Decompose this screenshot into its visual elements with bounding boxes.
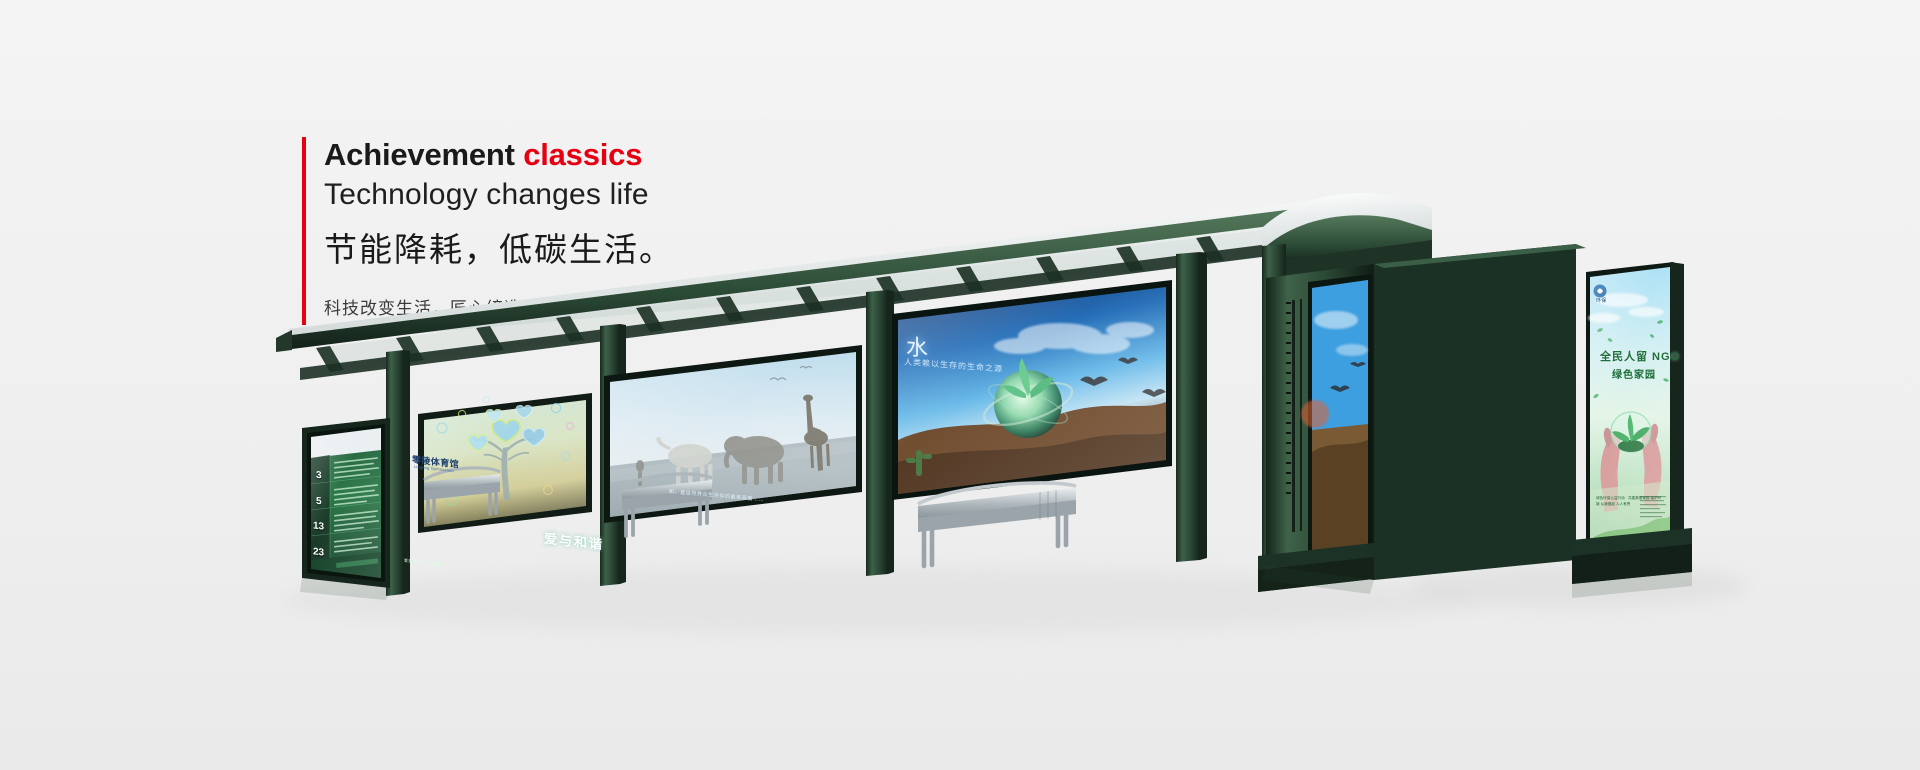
column-4 (1176, 252, 1200, 562)
bus-shelter-illustration (0, 0, 1920, 770)
panel-pillar-lightbox (1258, 264, 1382, 592)
ad-green-side-edge (1670, 262, 1684, 548)
schedule-route-2: 13 (313, 520, 324, 532)
ad-green-glass-sheen (1590, 267, 1670, 553)
schedule-route-3: 23 (313, 546, 324, 558)
panel-ad-water (892, 280, 1172, 500)
schedule-route-1: 5 (316, 496, 322, 508)
ad-water-glass-sheen (898, 287, 1166, 494)
ad-love-glass-sheen (424, 400, 586, 527)
panel-ad-love (418, 393, 592, 533)
ad-green-casing (1374, 244, 1576, 580)
schedule-route-0: 3 (316, 470, 322, 482)
column-3 (866, 290, 888, 576)
bench-3 (918, 483, 1076, 566)
scene-canvas: Achievement classics Technology changes … (0, 0, 1920, 770)
panel-ad-green (1374, 244, 1692, 584)
